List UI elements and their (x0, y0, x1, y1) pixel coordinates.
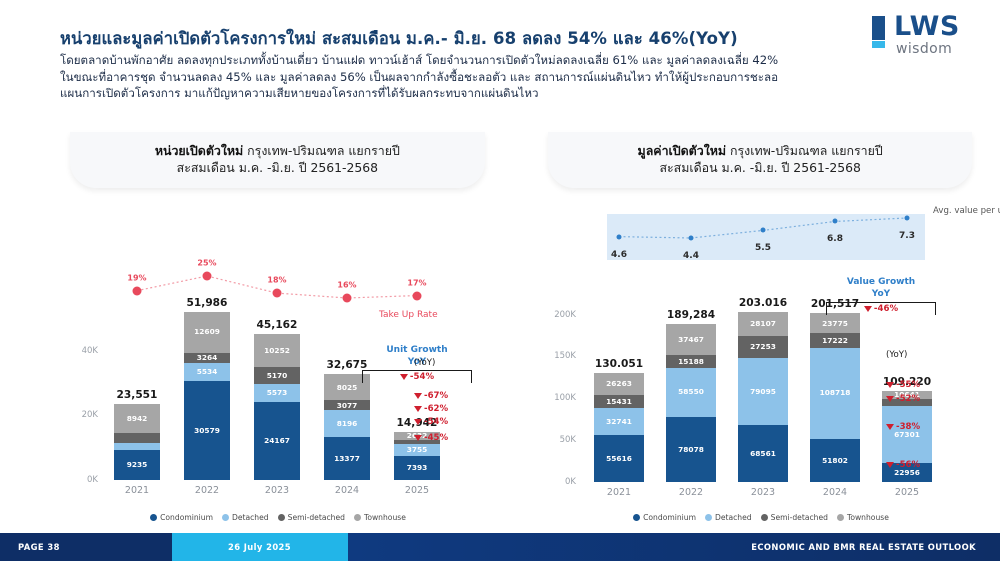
yoy-list: (YoY)-67%-62%-54%-45% (414, 358, 435, 370)
bar-segment-detached[interactable]: 79095 (738, 358, 788, 424)
bar-segment-detached[interactable]: 108718 (810, 348, 860, 439)
bar-segment-value: 15188 (678, 358, 704, 365)
bar-segment-value: 58550 (678, 388, 704, 395)
growth-label-yoy: YoY (826, 288, 936, 300)
bar-segment-condominium[interactable]: 24167 (254, 402, 300, 480)
x-axis-label: 2025 (847, 487, 967, 498)
bar-segment-value: 5534 (197, 368, 218, 375)
bar-segment-condominium[interactable]: 7393 (394, 456, 440, 480)
y-axis-tick: 40K (82, 346, 98, 356)
legend-label: Condominium (160, 513, 213, 522)
bar-segment-semi-detached[interactable] (114, 433, 160, 443)
legend-label: Townhouse (847, 513, 889, 522)
lws-logo: LWS wisdom (870, 12, 980, 60)
growth-callout: Value GrowthYoY-46% (826, 276, 936, 315)
bar-segment-value: 68561 (750, 450, 776, 457)
bar-segment-semi-detached[interactable]: 3077 (324, 400, 370, 410)
bar-segment-semi-detached[interactable]: 27253 (738, 336, 788, 359)
bar-segment-value: 9235 (127, 461, 148, 468)
x-axis-label: 2025 (357, 485, 477, 496)
legend-item[interactable]: Semi-detached (278, 513, 345, 522)
bar-segment-detached[interactable]: 32741 (594, 408, 644, 435)
growth-label: Value Growth (826, 276, 936, 288)
down-triangle-icon (414, 406, 422, 412)
bar-total-label: 51,986 (147, 297, 267, 309)
value-chart-caption: มูลค่าเปิดตัวใหม่ กรุงเทพ-ปริมณฑล แยกราย… (548, 132, 972, 188)
legend-item[interactable]: Townhouse (354, 513, 406, 522)
units-chart-panel: หน่วยเปิดตัวใหม่ กรุงเทพ-ปริมณฑล แยกรายป… (62, 132, 494, 524)
y-axis-tick: 100K (554, 393, 576, 403)
legend-item[interactable]: Detached (222, 513, 269, 522)
bar-segment-value: 78078 (678, 446, 704, 453)
yoy-row: -52% (886, 394, 920, 404)
yoy-row: -56% (886, 460, 920, 470)
bar-segment-value: 3264 (197, 354, 218, 361)
overlay-data-label: 19% (127, 273, 146, 282)
y-axis-tick: 0K (565, 477, 576, 487)
bar-segment-semi-detached[interactable]: 15431 (594, 395, 644, 408)
bar-segment-value: 13377 (334, 455, 360, 462)
yoy-list-header: (YoY) (414, 358, 435, 368)
yoy-row: -38% (886, 422, 920, 432)
bar-segment-value: 79095 (750, 388, 776, 395)
y-axis-tick: 0K (87, 475, 98, 485)
bar-segment-value: 3755 (407, 446, 428, 453)
bar-segment-value: 5170 (267, 372, 288, 379)
value-legend: CondominiumDetachedSemi-detachedTownhous… (540, 513, 982, 522)
bar-segment-value: 37467 (678, 336, 704, 343)
growth-value: -46% (827, 304, 935, 314)
yoy-list: (YoY)-55%-52%-38%-56% (886, 350, 907, 362)
slide-root: หน่วยและมูลค่าเปิดตัวโครงการใหม่ สะสมเดื… (0, 0, 1000, 561)
bar-segment-value: 24167 (264, 437, 290, 444)
down-triangle-icon (414, 393, 422, 399)
bar-segment-value: 12609 (194, 328, 220, 335)
overlay-data-point[interactable] (413, 291, 422, 300)
yoy-row: -67% (414, 391, 448, 401)
units-y-axis: 0K20K40K (62, 210, 102, 524)
overlay-data-point[interactable] (133, 286, 142, 295)
legend-item[interactable]: Townhouse (837, 513, 889, 522)
bar-segment-value: 8196 (337, 420, 358, 427)
overlay-data-point[interactable] (761, 228, 766, 233)
page-title: หน่วยและมูลค่าเปิดตัวโครงการใหม่ สะสมเดื… (60, 26, 850, 52)
header-paragraph: โดยตลาดบ้านพักอาศัย ลดลงทุกประเภททั้งบ้า… (60, 52, 906, 102)
logo-wordmark: LWS (894, 12, 960, 42)
legend-swatch-icon (705, 514, 712, 521)
avg-value-band (607, 214, 925, 260)
header-paragraph-line: โดยตลาดบ้านพักอาศัย ลดลงทุกประเภททั้งบ้า… (60, 52, 906, 69)
bar-segment-condominium[interactable]: 13377 (324, 437, 370, 480)
down-triangle-icon (414, 419, 422, 425)
legend-swatch-icon (633, 514, 640, 521)
bar-total-label: 45,162 (217, 319, 337, 331)
header-paragraph-line: ในขณะที่อาคารชุด จำนวนลดลง 45% และ มูลค่… (60, 69, 906, 86)
bar-segment-value: 55616 (606, 455, 632, 462)
overlay-data-label: 25% (197, 259, 216, 268)
bar-group[interactable]: 68561790952725328107 (738, 312, 788, 482)
yoy-list-header: (YoY) (886, 350, 907, 360)
footer-date: 26 July 2025 (228, 542, 291, 552)
units-legend: CondominiumDetachedSemi-detachedTownhous… (62, 513, 494, 522)
logo-bar-icon (872, 16, 885, 52)
down-triangle-icon (886, 462, 894, 468)
bar-group[interactable]: 92358942 (114, 404, 160, 480)
bar-segment-value: 5573 (267, 389, 288, 396)
value-caption-rest: กรุงเทพ-ปริมณฑล แยกรายปี (726, 143, 883, 158)
down-triangle-icon (414, 435, 422, 441)
bar-segment-semi-detached[interactable]: 17222 (810, 333, 860, 347)
legend-label: Detached (232, 513, 269, 522)
overlay-data-label: 5.5 (755, 243, 771, 253)
overlay-series-name: Avg. value per unit (933, 206, 1000, 216)
logo-tagline: wisdom (896, 41, 952, 57)
bar-segment-value: 8025 (337, 384, 358, 391)
overlay-data-label: 4.6 (611, 250, 627, 260)
overlay-data-label: 18% (267, 276, 286, 285)
bar-segment-detached[interactable]: 3755 (394, 444, 440, 456)
overlay-data-point[interactable] (833, 219, 838, 224)
bar-group[interactable]: 78078585501518837467 (666, 324, 716, 482)
y-axis-tick: 200K (554, 310, 576, 320)
growth-label: Unit Growth (362, 344, 472, 356)
overlay-data-point[interactable] (689, 236, 694, 241)
bar-total-label: 23,551 (77, 389, 197, 401)
y-axis-tick: 50K (560, 435, 576, 445)
bar-segment-value: 67301 (894, 431, 920, 438)
bar-segment-value: 3077 (337, 402, 358, 409)
bar-segment-value: 28107 (750, 320, 776, 327)
bar-segment-townhouse[interactable]: 8942 (114, 404, 160, 433)
units-caption-line2: สะสมเดือน ม.ค. -มิ.ย. ปี 2561-2568 (76, 159, 479, 176)
value-chart-panel: มูลค่าเปิดตัวใหม่ กรุงเทพ-ปริมณฑล แยกราย… (540, 132, 982, 524)
legend-swatch-icon (761, 514, 768, 521)
overlay-data-label: 17% (407, 278, 426, 287)
footer-report-title: ECONOMIC AND BMR REAL ESTATE OUTLOOK (751, 542, 976, 552)
value-bars: 5561632741154312626378078585501518837467… (582, 302, 982, 482)
bar-segment-value: 15431 (606, 398, 632, 405)
bar-segment-detached[interactable]: 58550 (666, 368, 716, 417)
bar-segment-value: 10252 (264, 347, 290, 354)
bar-segment-value: 51802 (822, 457, 848, 464)
legend-item[interactable]: Semi-detached (761, 513, 828, 522)
value-plot-area: 5561632741154312626378078585501518837467… (582, 302, 982, 482)
bar-segment-value: 23775 (822, 320, 848, 327)
bar-segment-condominium[interactable]: 78078 (666, 417, 716, 482)
yoy-row: -45% (414, 433, 448, 443)
bar-segment-value: 17222 (822, 337, 848, 344)
value-chart: 0K50K100K150K200K 5561632741154312626378… (540, 210, 982, 524)
overlay-data-point[interactable] (273, 289, 282, 298)
legend-swatch-icon (150, 514, 157, 521)
overlay-data-point[interactable] (617, 234, 622, 239)
value-caption-bold: มูลค่าเปิดตัวใหม่ (638, 143, 727, 158)
legend-label: Detached (715, 513, 752, 522)
bar-segment-townhouse[interactable]: 37467 (666, 324, 716, 355)
header-paragraph-line: แผนการเปิดตัวโครงการ มาแก้ปัญหาความเสียห… (60, 85, 906, 102)
bar-segment-value: 26263 (606, 380, 632, 387)
legend-label: Condominium (643, 513, 696, 522)
down-triangle-icon (886, 382, 894, 388)
growth-bracket: -46% (826, 302, 936, 315)
footer-page-number: PAGE 38 (18, 542, 60, 552)
legend-item[interactable]: Condominium (633, 513, 696, 522)
bar-group[interactable]: 518021087181722223775 (810, 313, 860, 482)
bar-segment-value: 108718 (820, 389, 851, 396)
legend-swatch-icon (278, 514, 285, 521)
value-caption-line2: สะสมเดือน ม.ค. -มิ.ย. ปี 2561-2568 (554, 159, 966, 176)
units-caption-rest: กรุงเทพ-ปริมณฑล แยกรายปี (243, 143, 400, 158)
overlay-data-label: 7.3 (899, 231, 915, 241)
bar-segment-detached[interactable]: 5573 (254, 384, 300, 402)
slide-header: หน่วยและมูลค่าเปิดตัวโครงการใหม่ สะสมเดื… (0, 0, 1000, 128)
bar-group[interactable]: 55616327411543126263 (594, 373, 644, 482)
y-axis-tick: 20K (82, 410, 98, 420)
bar-segment-semi-detached[interactable]: 3264 (184, 353, 230, 364)
yoy-row: -54% (414, 417, 448, 427)
legend-swatch-icon (837, 514, 844, 521)
bar-segment-detached[interactable]: 67301 (882, 406, 932, 462)
bar-group[interactable]: 241675573517010252 (254, 334, 300, 480)
bar-segment-value: 7393 (407, 464, 428, 471)
yoy-row: -55% (886, 380, 920, 390)
legend-item[interactable]: Condominium (150, 513, 213, 522)
legend-item[interactable]: Detached (705, 513, 752, 522)
bar-segment-condominium[interactable]: 68561 (738, 425, 788, 482)
overlay-data-point[interactable] (905, 216, 910, 221)
down-triangle-icon (886, 424, 894, 430)
bar-segment-condominium[interactable]: 51802 (810, 439, 860, 482)
growth-bracket: -54% (362, 370, 472, 383)
overlay-data-label: 16% (337, 281, 356, 290)
growth-value: -54% (363, 372, 471, 382)
overlay-data-point[interactable] (203, 272, 212, 281)
bar-segment-value: 27253 (750, 343, 776, 350)
down-triangle-icon (864, 306, 872, 312)
legend-label: Semi-detached (288, 513, 345, 522)
bar-segment-townhouse[interactable]: 23775 (810, 313, 860, 333)
bar-segment-value: 8942 (127, 415, 148, 422)
down-triangle-icon (400, 374, 408, 380)
legend-swatch-icon (354, 514, 361, 521)
bar-segment-condominium[interactable]: 55616 (594, 435, 644, 482)
overlay-data-label: 4.4 (683, 251, 699, 261)
bar-total-label: 189,284 (631, 309, 751, 321)
units-chart: 0K20K40K 9235894230579553432641260924167… (62, 210, 494, 524)
bar-segment-value: 30579 (194, 427, 220, 434)
overlay-data-label: 6.8 (827, 234, 843, 244)
bar-total-label: 130.051 (559, 358, 679, 370)
bar-segment-townhouse[interactable]: 26263 (594, 373, 644, 395)
bar-segment-detached[interactable]: 5534 (184, 363, 230, 381)
legend-swatch-icon (222, 514, 229, 521)
yoy-row: -62% (414, 404, 448, 414)
units-caption-bold: หน่วยเปิดตัวใหม่ (155, 143, 243, 158)
down-triangle-icon (886, 396, 894, 402)
bar-segment-detached[interactable] (114, 443, 160, 451)
units-chart-caption: หน่วยเปิดตัวใหม่ กรุงเทพ-ปริมณฑล แยกรายป… (70, 132, 485, 188)
legend-label: Townhouse (364, 513, 406, 522)
bar-segment-condominium[interactable]: 9235 (114, 450, 160, 480)
legend-label: Semi-detached (771, 513, 828, 522)
bar-segment-value: 32741 (606, 418, 632, 425)
slide-footer: PAGE 38 26 July 2025 ECONOMIC AND BMR RE… (0, 533, 1000, 561)
